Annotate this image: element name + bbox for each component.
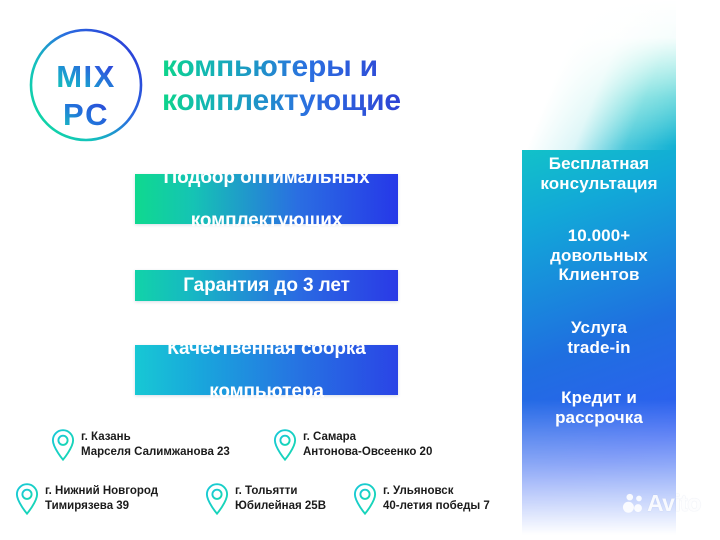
- avito-logo-icon: [622, 493, 644, 515]
- promo-item-line: trade-in: [567, 338, 630, 357]
- location-city: г. Самара: [303, 430, 432, 445]
- brand-logo: MIX PC: [27, 26, 145, 144]
- location-item-kazan: г. Казань Марселя Салимжанова 23: [50, 428, 230, 462]
- feature-line-1: Гарантия до 3 лет: [175, 275, 358, 296]
- feature-badge-text: Качественная сборка компьютера: [151, 338, 381, 402]
- headline-line-2: комплектующие: [162, 84, 512, 118]
- headline-line-1: компьютеры и: [162, 50, 512, 84]
- location-item-ulyanovsk: г. Ульяновск 40-летия победы 7: [352, 482, 490, 516]
- logo-text-pc: PC: [63, 97, 109, 132]
- promo-item-line: Кредит и: [561, 388, 637, 407]
- map-pin-icon: [352, 482, 378, 516]
- logo-text-mix: MIX: [56, 59, 116, 94]
- location-address: Тимирязева 39: [45, 499, 158, 514]
- promo-item-line: Услуга: [571, 318, 627, 337]
- location-text: г. Казань Марселя Салимжанова 23: [81, 430, 230, 460]
- avito-watermark: Avito: [622, 492, 701, 515]
- location-address: Юбилейная 25В: [235, 499, 326, 514]
- location-item-tolyatti: г. Тольятти Юбилейная 25В: [204, 482, 326, 516]
- location-text: г. Ульяновск 40-летия победы 7: [383, 484, 490, 514]
- location-city: г. Тольятти: [235, 484, 326, 499]
- feature-badge-warranty: Гарантия до 3 лет: [135, 270, 398, 301]
- feature-badge-optimal-parts: Подбор оптимальных комплектующих: [135, 174, 398, 224]
- promo-item-line: Бесплатная: [549, 154, 649, 173]
- promo-item-trade-in: Услуга trade-in: [522, 318, 676, 357]
- feature-badge-text: Гарантия до 3 лет: [167, 275, 366, 296]
- location-city: г. Казань: [81, 430, 230, 445]
- location-item-nizhny-novgorod: г. Нижний Новгород Тимирязева 39: [14, 482, 158, 516]
- location-text: г. Нижний Новгород Тимирязева 39: [45, 484, 158, 514]
- feature-line-2: компьютера: [159, 381, 373, 402]
- promo-item-happy-clients: 10.000+ довольных Клиентов: [522, 226, 676, 285]
- location-text: г. Самара Антонова-Овсеенко 20: [303, 430, 432, 460]
- promo-item-line: консультация: [540, 174, 657, 193]
- feature-line-1: Подбор оптимальных: [156, 167, 378, 188]
- promo-item-line: Клиентов: [558, 265, 639, 284]
- map-pin-icon: [272, 428, 298, 462]
- location-text: г. Тольятти Юбилейная 25В: [235, 484, 326, 514]
- page-title: компьютеры и комплектующие: [162, 50, 512, 118]
- map-pin-icon: [204, 482, 230, 516]
- logo-circle-icon: MIX PC: [27, 26, 145, 144]
- location-address: 40-летия победы 7: [383, 499, 490, 514]
- advertisement-banner: Бесплатная консультация 10.000+ довольны…: [0, 0, 720, 540]
- feature-line-1: Качественная сборка: [159, 338, 373, 359]
- promo-item-line: довольных: [550, 246, 648, 265]
- location-city: г. Ульяновск: [383, 484, 490, 499]
- promo-item-line: 10.000+: [568, 226, 631, 245]
- feature-line-2: комплектующих: [156, 210, 378, 231]
- promo-item-credit-installment: Кредит и рассрочка: [522, 388, 676, 427]
- location-address: Марселя Салимжанова 23: [81, 445, 230, 460]
- map-pin-icon: [14, 482, 40, 516]
- location-address: Антонова-Овсеенко 20: [303, 445, 432, 460]
- feature-badge-quality-build: Качественная сборка компьютера: [135, 345, 398, 395]
- promo-panel-text-layer: Бесплатная консультация 10.000+ довольны…: [522, 0, 676, 540]
- map-pin-icon: [50, 428, 76, 462]
- promo-item-free-consultation: Бесплатная консультация: [522, 154, 676, 193]
- promo-item-line: рассрочка: [555, 408, 643, 427]
- avito-wordmark: Avito: [647, 492, 701, 515]
- feature-badge-text: Подбор оптимальных комплектующих: [148, 167, 386, 231]
- location-item-samara: г. Самара Антонова-Овсеенко 20: [272, 428, 432, 462]
- location-city: г. Нижний Новгород: [45, 484, 158, 499]
